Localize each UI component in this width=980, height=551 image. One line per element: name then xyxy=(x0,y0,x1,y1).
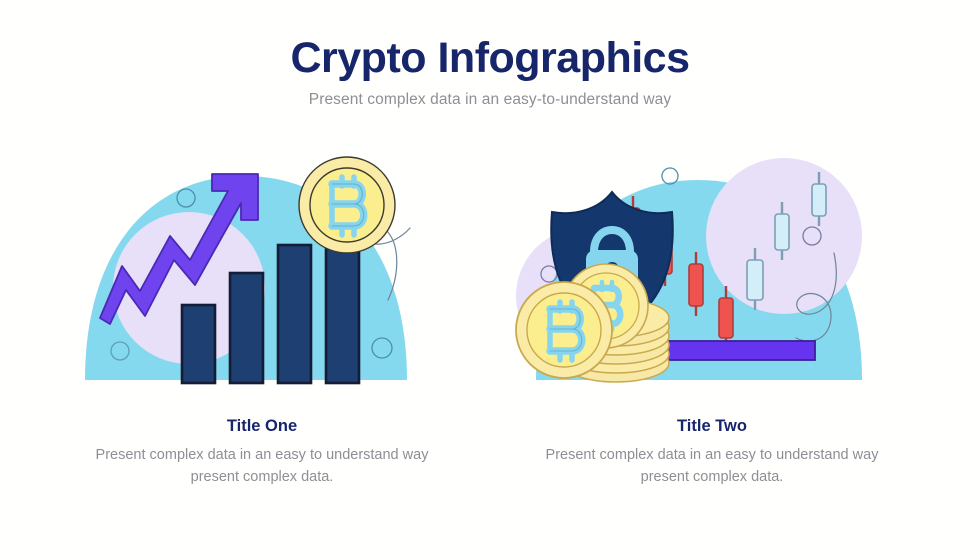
outline-circle-decoration xyxy=(662,168,678,184)
bitcoin-coin-icon xyxy=(299,157,395,253)
illustration-one-svg xyxy=(62,148,462,393)
card-two-body: Present complex data in an easy to under… xyxy=(512,444,912,489)
page-subtitle: Present complex data in an easy-to-under… xyxy=(0,91,980,109)
infographic-card-two[interactable]: Title Two Present complex data in an eas… xyxy=(512,148,912,508)
purple-bar-decoration xyxy=(660,341,815,360)
slide-canvas: Crypto Infographics Present complex data… xyxy=(0,0,980,551)
security-shield-candlestick-bitcoin-illustration xyxy=(512,148,912,393)
bar-chart-bar xyxy=(182,305,215,383)
bar-chart-bar xyxy=(230,273,263,383)
card-two-title: Title Two xyxy=(512,417,912,436)
infographic-card-one[interactable]: Title One Present complex data in an eas… xyxy=(62,148,462,508)
bar-chart-bar xyxy=(278,245,311,383)
card-one-body: Present complex data in an easy to under… xyxy=(62,444,462,489)
page-title: Crypto Infographics xyxy=(0,36,980,81)
slide-header: Crypto Infographics Present complex data… xyxy=(0,36,980,109)
card-one-title: Title One xyxy=(62,417,462,436)
illustration-two-svg xyxy=(512,148,912,393)
growth-bar-chart-bitcoin-illustration xyxy=(62,148,462,393)
